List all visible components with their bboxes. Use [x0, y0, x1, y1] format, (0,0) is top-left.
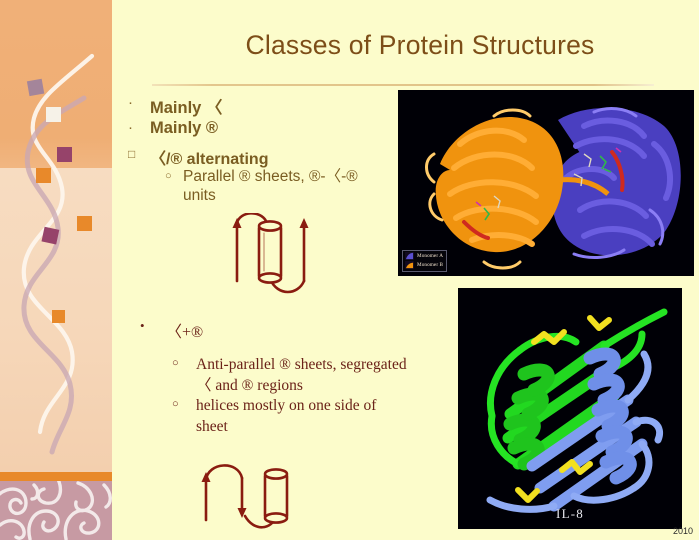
list-item: □ 〈/® alternating [128, 145, 378, 169]
bullet-marker: ○ [172, 355, 196, 372]
list-item: ○ Anti-parallel ® sheets, segregated 〈 a… [172, 355, 412, 396]
bullet-marker: · [128, 94, 150, 113]
legend-item: Monomer A [405, 252, 443, 260]
list-item: · Mainly 〈 [128, 94, 378, 118]
legend-item: Monomer B [405, 261, 443, 269]
bullet-marker: · [128, 119, 150, 138]
sidebar-orange-band [0, 472, 112, 481]
image-legend: Monomer A Monomer B [402, 250, 447, 272]
bullet-marker: □ [128, 145, 150, 163]
decorative-sidebar [0, 0, 112, 540]
list-item: · Mainly ® [128, 119, 378, 138]
antiparallel-beta-sheet-diagram [196, 458, 314, 536]
il8-structure-image: IL-8 IL-8 [458, 288, 682, 529]
title-divider [152, 84, 654, 86]
legend-swatch-monomer-b [405, 261, 414, 269]
list-item-label: Parallel ® sheets, ®-〈-® units [183, 168, 365, 206]
sidebar-paisley-pattern [0, 481, 112, 540]
list-item-label: 〈/® alternating [150, 145, 378, 169]
parallel-beta-alpha-beta-diagram [222, 213, 322, 301]
slide-canvas: Classes of Protein Structures · Mainly 〈… [0, 0, 699, 540]
list-item-label: Mainly 〈 [150, 94, 378, 118]
protein-dimer-image: Monomer A Monomer B [398, 90, 694, 276]
legend-label: Monomer B [417, 262, 443, 268]
list-item-label: helices mostly on one side of sheet [196, 396, 412, 437]
sidebar-ribbons [0, 0, 112, 481]
legend-swatch-monomer-a [405, 252, 414, 260]
bullet-marker: ○ [165, 168, 183, 186]
list-item-label: 〈+® [166, 318, 340, 342]
page-title: Classes of Protein Structures [150, 30, 690, 61]
list-item: ○ Parallel ® sheets, ®-〈-® units [165, 168, 365, 206]
list-item: ○ helices mostly on one side of sheet [172, 396, 412, 437]
year-footer: 2010 [673, 526, 693, 536]
list-item: • 〈+® [140, 318, 340, 342]
legend-label: Monomer A [417, 253, 443, 259]
bullet-marker: ○ [172, 396, 196, 413]
list-item-label: Mainly ® [150, 119, 378, 138]
bullet-marker: • [140, 318, 166, 334]
il8-caption: IL-8 [458, 506, 682, 522]
list-item-label: Anti-parallel ® sheets, segregated 〈 and… [196, 355, 412, 396]
